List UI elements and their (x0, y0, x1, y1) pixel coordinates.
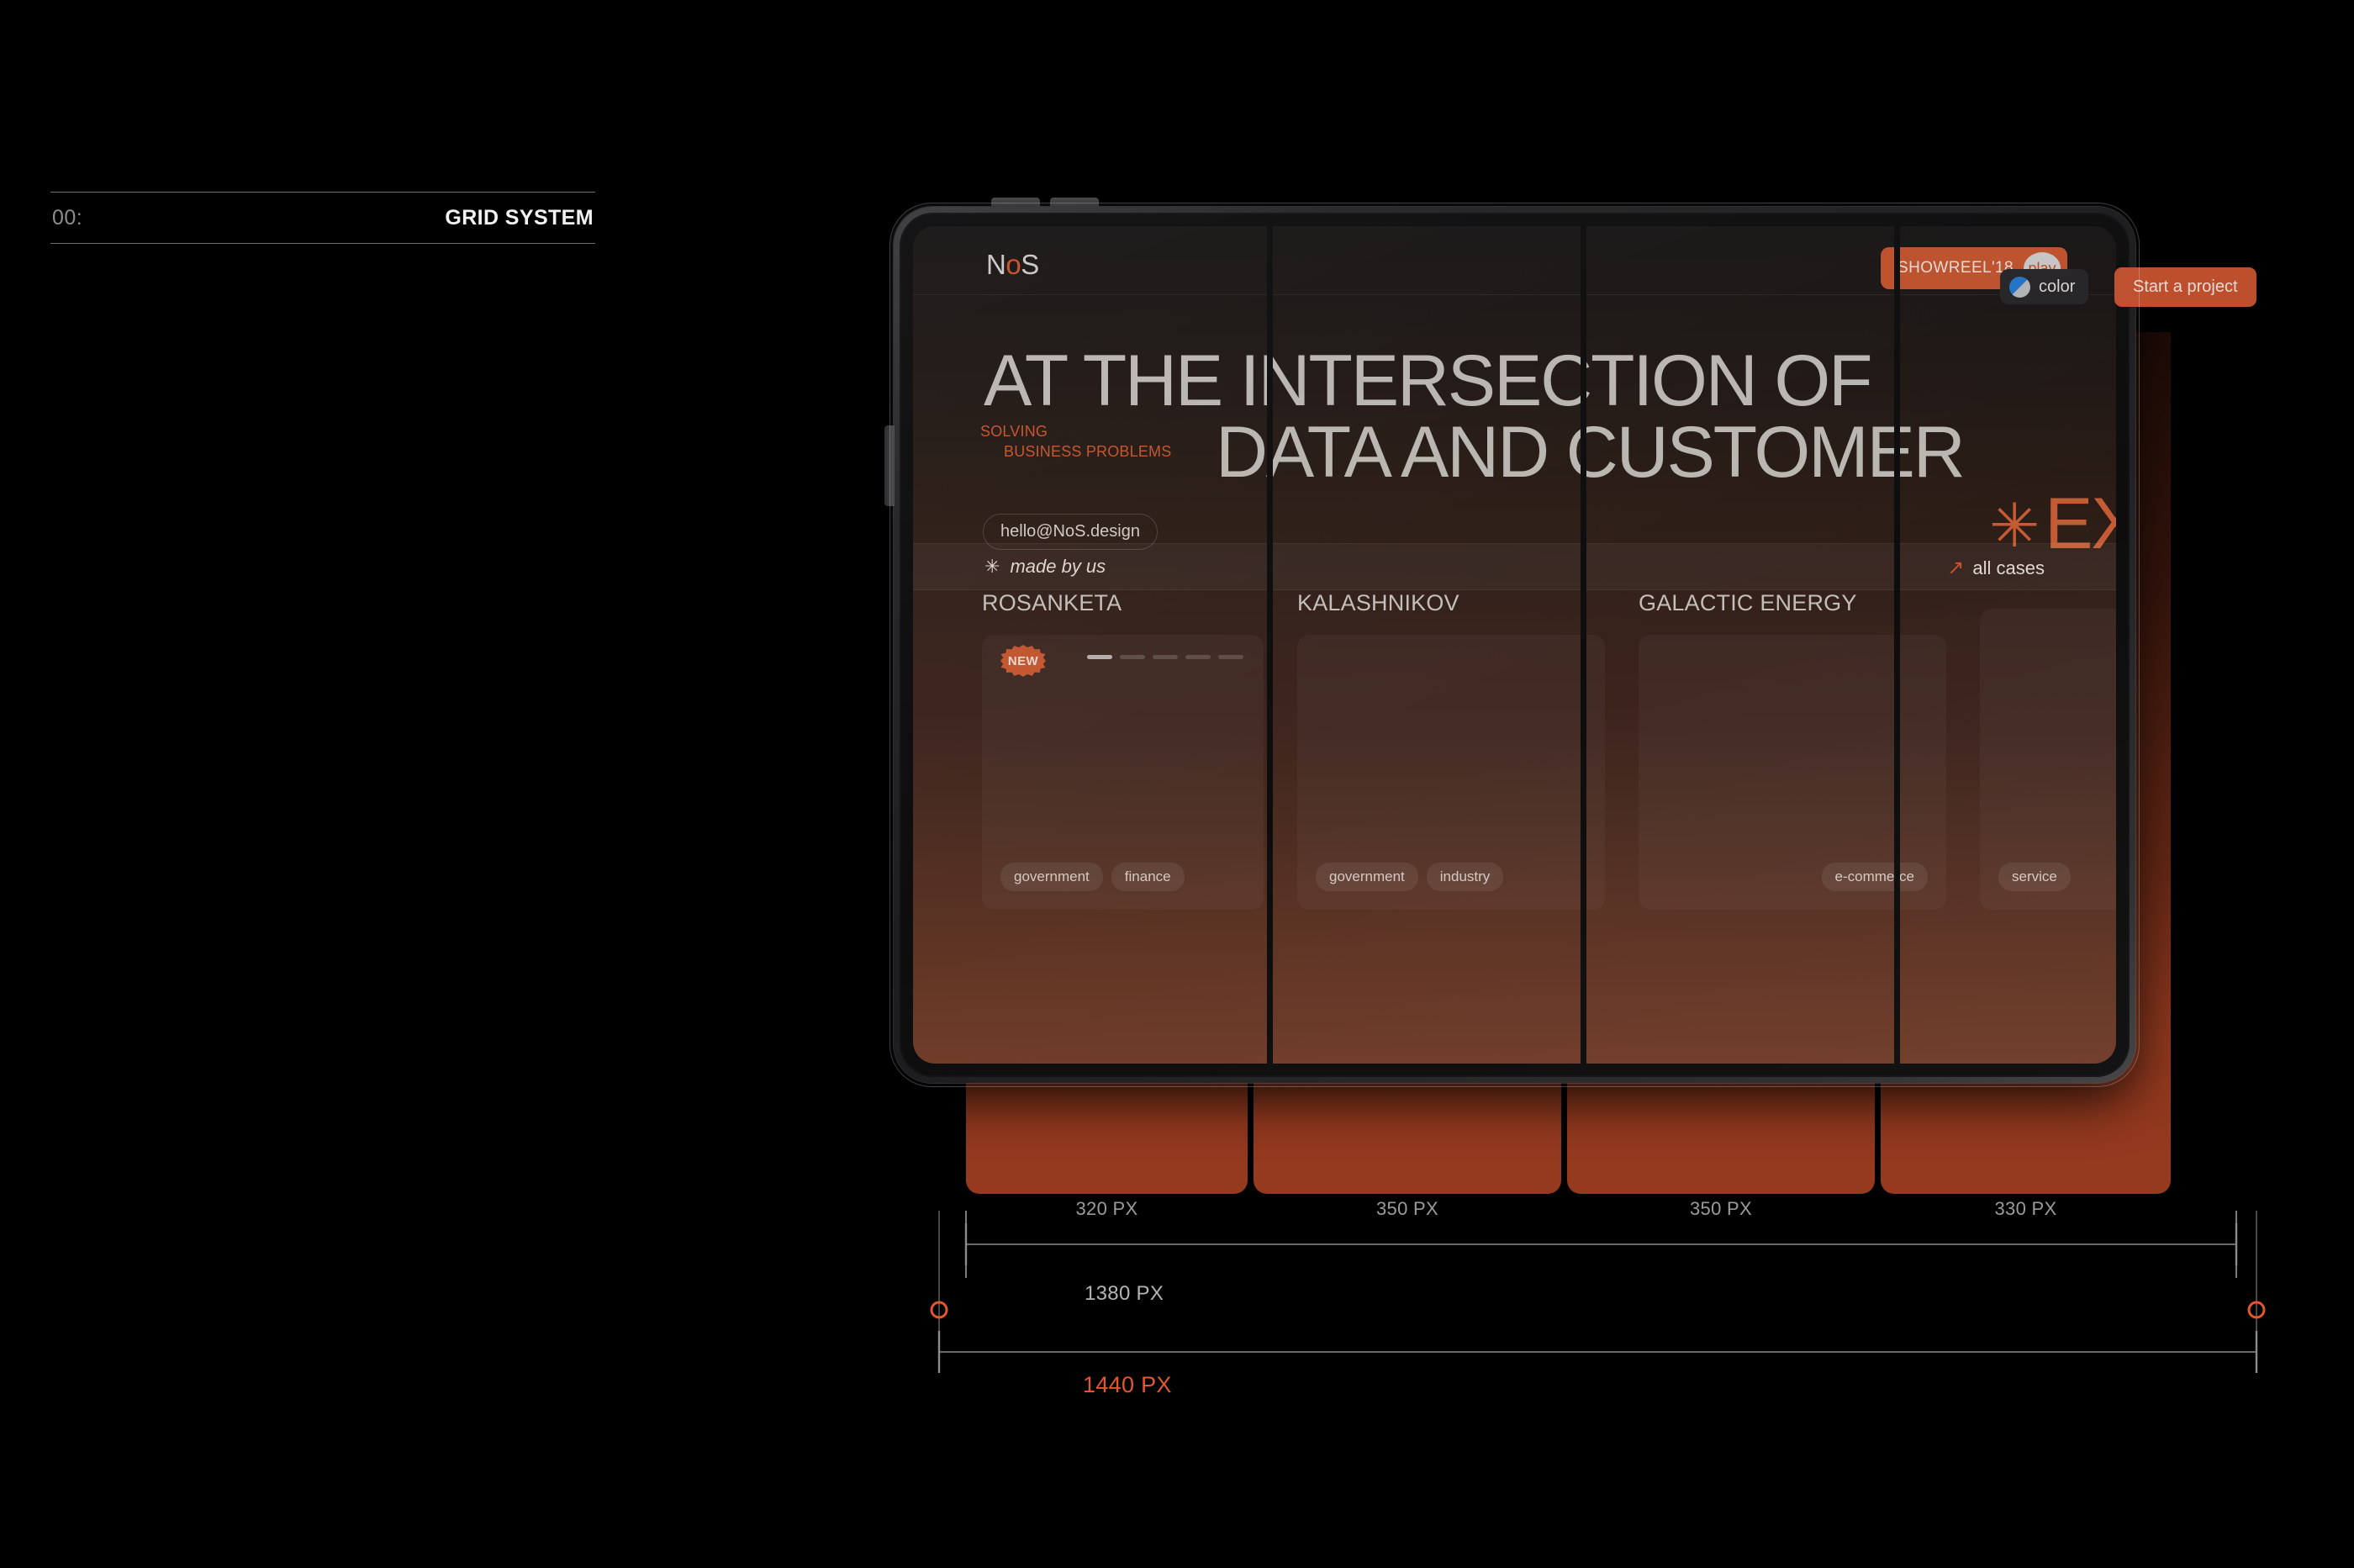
dimension-annotations (0, 0, 2354, 1568)
